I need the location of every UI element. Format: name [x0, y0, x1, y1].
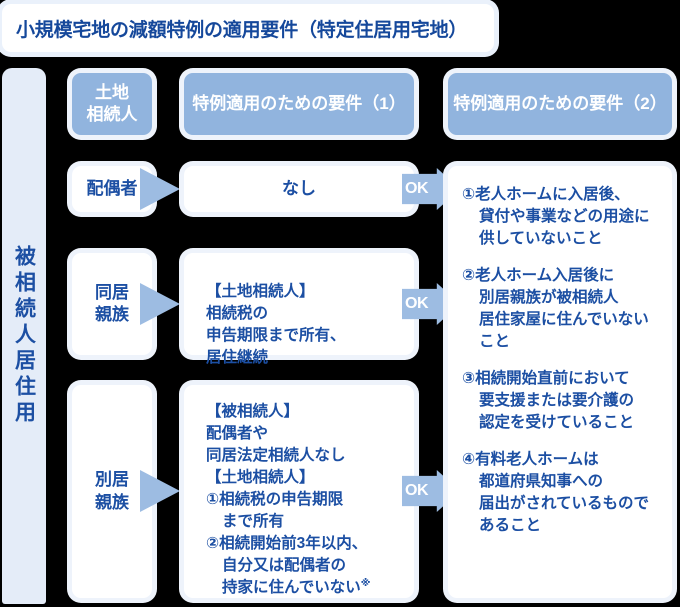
column-header-requirement1: 特例適用のための要件（1） — [184, 73, 414, 135]
requirement1-separate-line-5: まで所有 — [206, 511, 370, 533]
requirement2-item-3-line-1: 要支援または要介護の — [462, 390, 664, 412]
requirement1-separate-line-7: 自分又は配偶者の — [206, 555, 370, 577]
column-header-requirement1-label: 特例適用のための要件（1） — [192, 93, 405, 115]
requirement1-separate-line-1: 配偶者や — [206, 423, 370, 445]
heir-cell-separate-relative-label: 別居 親族 — [95, 469, 129, 514]
requirement2-item-2-line-0: ②老人ホーム入居後に — [462, 265, 664, 287]
requirement2-item-4-line-3: あること — [462, 515, 664, 537]
heir-cell-cohabiting-relative-label: 同居 親族 — [95, 282, 129, 327]
requirement1-separate-line-2: 同居法定相続人なし — [206, 445, 370, 467]
requirement1-cell-spouse-text: なし — [184, 177, 414, 201]
requirement1-separate-line-3: 【土地相続人】 — [206, 467, 370, 489]
requirement1-separate-line-8: 持家に住んでいない※ — [206, 577, 370, 599]
arrow-triangle-spouse — [140, 168, 180, 210]
requirement2-item-3: ③相続開始直前において要支援または要介護の認定を受けていること — [462, 368, 664, 434]
requirement1-separate-line-6: ②相続開始前3年以内、 — [206, 533, 370, 555]
requirement2-item-3-line-2: 認定を受けていること — [462, 412, 664, 434]
sidebar-category-label: 被相続人居住用 — [14, 245, 35, 427]
requirement1-separate-footnote-marker: ※ — [361, 578, 371, 589]
column-header-heir-label: 土地 相続人 — [87, 82, 138, 126]
column-header-requirement2-label: 特例適用のための要件（2） — [453, 93, 666, 115]
requirement1-cell-separate-relative: 【被相続人】配偶者や同居法定相続人なし【土地相続人】①相続税の申告期限まで所有②… — [184, 385, 414, 598]
requirement2-item-2-line-3: こと — [462, 331, 664, 353]
arrow-triangle-cohabiting-relative — [140, 283, 180, 325]
requirement1-cell-separate-relative-text: 【被相続人】配偶者や同居法定相続人なし【土地相続人】①相続税の申告期限まで所有②… — [206, 401, 370, 599]
requirement2-item-1-line-1: 貸付や事業などの用途に — [462, 206, 664, 228]
requirement2-item-4: ④有料老人ホームは都道府県知事への届出がされているものであること — [462, 449, 664, 537]
requirement2-item-4-line-1: 都道府県知事への — [462, 471, 664, 493]
requirement2-item-1: ①老人ホームに入居後、貸付や事業などの用途に供していないこと — [462, 184, 664, 250]
requirement2-item-2-line-2: 居住家屋に住んでいない — [462, 309, 664, 331]
requirement1-cell-spouse: なし — [184, 166, 414, 212]
column-header-requirement2: 特例適用のための要件（2） — [448, 73, 672, 135]
requirement1-cell-cohabiting-relative: 【土地相続人】 相続税の 申告期限まで所有、 居住継続 — [184, 253, 414, 355]
requirement2-item-3-line-0: ③相続開始直前において — [462, 368, 664, 390]
requirement2-list: ①老人ホームに入居後、貸付や事業などの用途に供していないこと②老人ホーム入居後に… — [462, 184, 664, 552]
requirement1-cell-cohabiting-relative-text: 【土地相続人】 相続税の 申告期限まで所有、 居住継続 — [206, 281, 346, 369]
requirement2-item-1-line-0: ①老人ホームに入居後、 — [462, 184, 664, 206]
ok-arrow-badge-spouse-label: OK — [402, 180, 428, 198]
requirement2-cell: ①老人ホームに入居後、貸付や事業などの用途に供していないこと②老人ホーム入居後に… — [448, 166, 672, 598]
requirement1-separate-line-4: ①相続税の申告期限 — [206, 489, 370, 511]
sidebar-category: 被相続人居住用 — [2, 68, 46, 604]
requirement2-item-1-line-2: 供していないこと — [462, 228, 664, 250]
page-title-bar: 小規模宅地の減額特例の適用要件（特定住居用宅地） — [2, 4, 494, 52]
ok-arrow-badge-separate-relative-label: OK — [402, 482, 428, 500]
requirement2-item-4-line-2: 届出がされているもので — [462, 493, 664, 515]
diagram-canvas: 小規模宅地の減額特例の適用要件（特定住居用宅地） 被相続人居住用 土地 相続人 … — [0, 0, 680, 607]
heir-cell-spouse-label: 配偶者 — [87, 178, 138, 200]
requirement2-item-4-line-0: ④有料老人ホームは — [462, 449, 664, 471]
requirement2-item-2-line-1: 別居親族が被相続人 — [462, 287, 664, 309]
requirement1-separate-line-0: 【被相続人】 — [206, 401, 370, 423]
column-header-heir: 土地 相続人 — [72, 73, 152, 135]
arrow-triangle-separate-relative — [140, 470, 180, 512]
requirement2-item-2: ②老人ホーム入居後に別居親族が被相続人居住家屋に住んでいないこと — [462, 265, 664, 353]
ok-arrow-badge-cohabiting-relative-label: OK — [402, 295, 428, 313]
page-title: 小規模宅地の減額特例の適用要件（特定住居用宅地） — [2, 15, 467, 42]
